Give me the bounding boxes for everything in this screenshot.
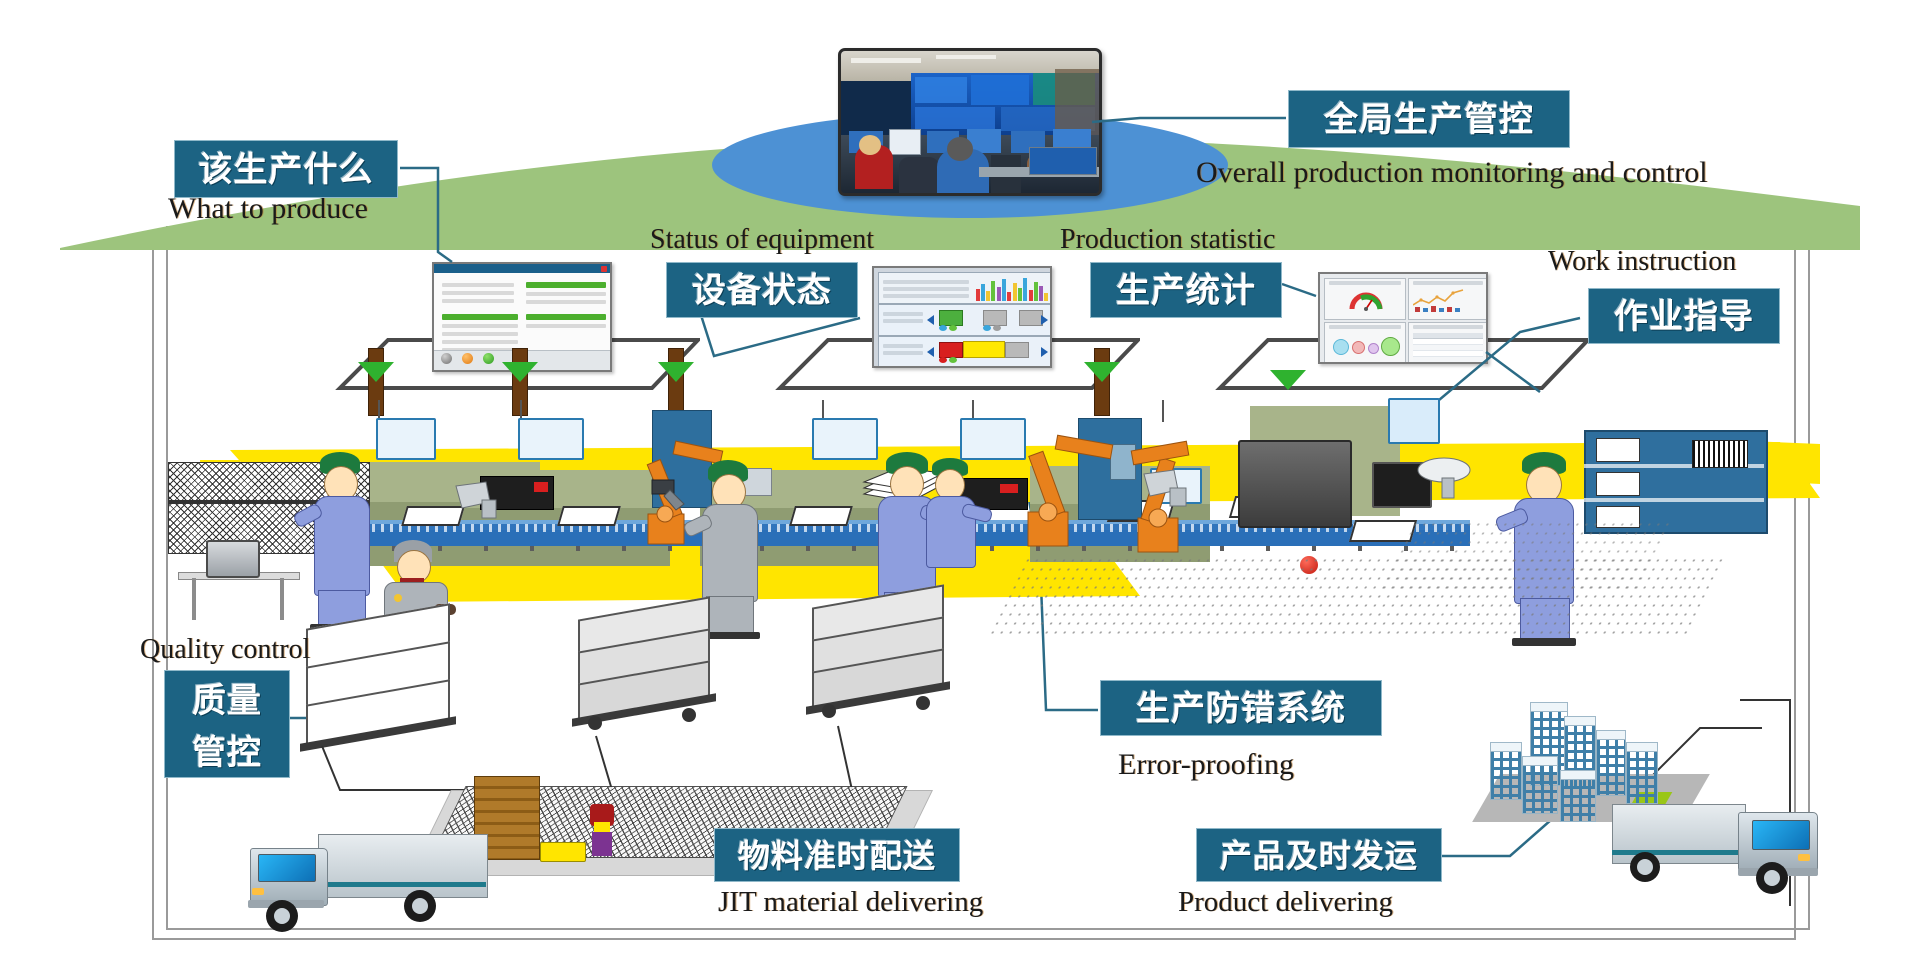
control-box-indicator — [534, 482, 548, 492]
caption-jit-material-delivering: JIT material delivering — [718, 886, 983, 919]
badge-product-delivering[interactable]: 产品及时发运 — [1196, 828, 1442, 882]
green-arrow — [1082, 360, 1122, 388]
barcode-label — [1692, 440, 1748, 468]
caption-production-statistic: Production statistic — [1060, 224, 1275, 256]
reset-button[interactable] — [441, 353, 452, 364]
dotted-floor — [1379, 520, 1673, 590]
green-arrow — [1268, 368, 1308, 396]
station-monitor[interactable] — [518, 418, 584, 460]
building-roof — [1560, 770, 1596, 780]
press-head — [1416, 452, 1486, 508]
badge-jit-material-delivering[interactable]: 物料准时配送 — [714, 828, 960, 882]
status-circle-4 — [1381, 337, 1400, 356]
data-table — [1413, 333, 1483, 359]
pallet-cart — [306, 616, 478, 746]
truck-headlight — [252, 888, 264, 895]
equipment-status-panel[interactable] — [872, 266, 1052, 368]
green-arrow — [656, 360, 696, 388]
badge-what-to-produce[interactable]: 该生产什么 — [174, 140, 398, 198]
pallet-cart — [812, 596, 962, 726]
badge-production-statistic[interactable]: 生产统计 — [1090, 262, 1282, 318]
machine-icon-ok — [939, 310, 963, 326]
delivery-truck-right — [1612, 790, 1862, 900]
caption-status-of-equipment: Status of equipment — [650, 224, 874, 256]
product-on-belt — [789, 506, 853, 526]
green-arrow — [356, 360, 396, 388]
status-circle-1 — [1333, 339, 1349, 355]
caption-quality-control: Quality control — [140, 634, 310, 666]
line-chart-icon — [1413, 287, 1467, 313]
truck-windshield — [1752, 820, 1810, 850]
worker-shoes — [1512, 638, 1576, 646]
worker-body — [314, 496, 370, 596]
worker — [300, 452, 380, 632]
green-arrow — [500, 360, 540, 388]
caption-product-delivering: Product delivering — [1178, 886, 1393, 919]
diagram-canvas: What to produce 该生产什么 Overall production… — [0, 0, 1920, 980]
badge-work-instruction[interactable]: 作业指导 — [1588, 288, 1780, 344]
confirm-button[interactable] — [483, 353, 494, 364]
press-head — [1138, 466, 1198, 514]
panel-titlebar — [434, 264, 610, 273]
worker-badge — [394, 594, 402, 602]
building-roof — [1530, 702, 1568, 712]
work-instruction-tablet[interactable] — [1388, 398, 1440, 444]
hanging-cable — [1162, 400, 1164, 422]
truck-cargo-box — [318, 834, 488, 898]
alarm-tooltip — [963, 341, 1005, 358]
station-monitor[interactable] — [960, 418, 1026, 460]
truck-cargo-box — [1612, 804, 1746, 864]
caption-overall-monitoring: Overall production monitoring and contro… — [1196, 156, 1708, 190]
truck-hub — [1764, 870, 1780, 886]
truck-windshield — [258, 854, 316, 882]
station-monitor[interactable] — [376, 418, 436, 460]
warehouse-worker — [586, 804, 620, 862]
control-box-indicator — [1000, 484, 1018, 493]
machine-cabinet-dark — [1238, 440, 1352, 528]
building-roof — [1490, 742, 1522, 752]
press-head — [646, 476, 692, 524]
robot-arm — [1018, 432, 1128, 552]
worker — [918, 458, 988, 598]
nav-left-icon[interactable] — [927, 315, 934, 325]
building — [1596, 736, 1626, 796]
close-icon[interactable] — [601, 266, 607, 272]
delivery-truck-left — [240, 824, 540, 934]
press-head — [452, 480, 506, 530]
warning-button[interactable] — [462, 353, 473, 364]
product-on-belt — [557, 506, 621, 526]
building-roof — [1626, 742, 1658, 752]
qc-table-leg — [280, 578, 284, 620]
mini-bar-chart — [975, 275, 1049, 301]
control-room-photo — [838, 48, 1102, 196]
gauge-icon — [1349, 287, 1383, 313]
building — [1522, 762, 1558, 814]
truck-hub — [274, 908, 290, 924]
truck-hub — [1637, 859, 1653, 875]
production-statistics-panel[interactable] — [1318, 272, 1488, 364]
rack-box — [1596, 438, 1640, 462]
badge-status-of-equipment[interactable]: 设备状态 — [666, 262, 858, 318]
forklift-body — [540, 842, 586, 862]
building — [1490, 748, 1522, 800]
badge-error-proofing[interactable]: 生产防错系统 — [1100, 680, 1382, 736]
building-roof — [1564, 716, 1596, 726]
nav-right-icon[interactable] — [1041, 315, 1048, 325]
qc-table-leg — [192, 578, 196, 620]
rack-box — [1596, 472, 1640, 496]
storage-rack-shelf — [1584, 498, 1764, 502]
status-circle-3 — [1368, 343, 1379, 354]
pallet-cart — [578, 608, 728, 738]
truck-hub — [412, 898, 428, 914]
badge-overall-monitoring[interactable]: 全局生产管控 — [1288, 90, 1570, 148]
caption-work-instruction: Work instruction — [1548, 246, 1736, 278]
badge-quality-control[interactable]: 质量 管控 — [164, 670, 290, 778]
machine-icon-alarm — [939, 342, 963, 358]
status-circle-2 — [1352, 341, 1365, 354]
caption-error-proofing: Error-proofing — [1118, 748, 1294, 782]
building-roof — [1596, 730, 1626, 740]
qc-instrument — [206, 540, 260, 578]
building-roof — [1522, 756, 1558, 766]
building — [1560, 776, 1596, 822]
truck-headlight — [1798, 854, 1810, 861]
